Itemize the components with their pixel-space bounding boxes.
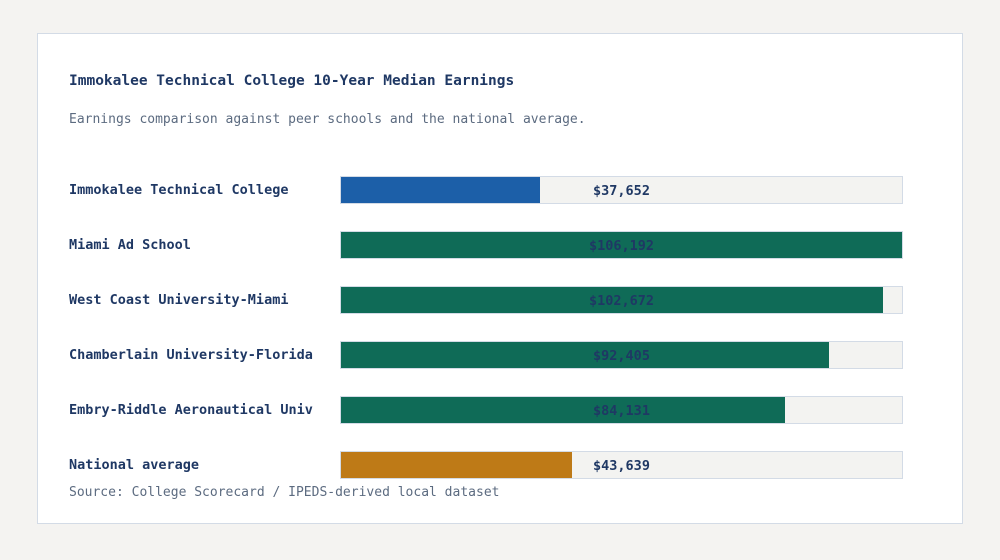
bar-row: $43,639National average xyxy=(38,451,962,479)
bar-track: $37,652 xyxy=(340,176,903,204)
bar-row-label: Miami Ad School xyxy=(69,231,191,259)
bar-row: $106,192Miami Ad School xyxy=(38,231,962,259)
bar-track: $92,405 xyxy=(340,341,903,369)
bar-row-label: West Coast University-Miami xyxy=(69,286,288,314)
bar-row: $37,652Immokalee Technical College xyxy=(38,176,962,204)
bar-value-label: $102,672 xyxy=(341,287,902,315)
chart-card: Immokalee Technical College 10-Year Medi… xyxy=(37,33,963,524)
bar-value-label: $84,131 xyxy=(341,397,902,425)
bar-row-label: National average xyxy=(69,451,199,479)
bar-row: $102,672West Coast University-Miami xyxy=(38,286,962,314)
bar-value-label: $92,405 xyxy=(341,342,902,370)
bar-row: $84,131Embry-Riddle Aeronautical Univ xyxy=(38,396,962,424)
bar-track: $43,639 xyxy=(340,451,903,479)
bar-value-label: $106,192 xyxy=(341,232,902,260)
bar-track: $102,672 xyxy=(340,286,903,314)
bar-row-label: Chamberlain University-Florida xyxy=(69,341,313,369)
bar-track: $106,192 xyxy=(340,231,903,259)
page-title: Immokalee Technical College 10-Year Medi… xyxy=(69,73,514,89)
bar-row-label: Immokalee Technical College xyxy=(69,176,288,204)
bar-value-label: $43,639 xyxy=(341,452,902,480)
chart-subtitle: Earnings comparison against peer schools… xyxy=(69,112,586,127)
bar-row-label: Embry-Riddle Aeronautical Univ xyxy=(69,396,313,424)
chart-card-inner: Immokalee Technical College 10-Year Medi… xyxy=(38,34,962,523)
bar-value-label: $37,652 xyxy=(341,177,902,205)
bar-row: $92,405Chamberlain University-Florida xyxy=(38,341,962,369)
bar-track: $84,131 xyxy=(340,396,903,424)
chart-source-note: Source: College Scorecard / IPEDS-derive… xyxy=(69,485,499,500)
